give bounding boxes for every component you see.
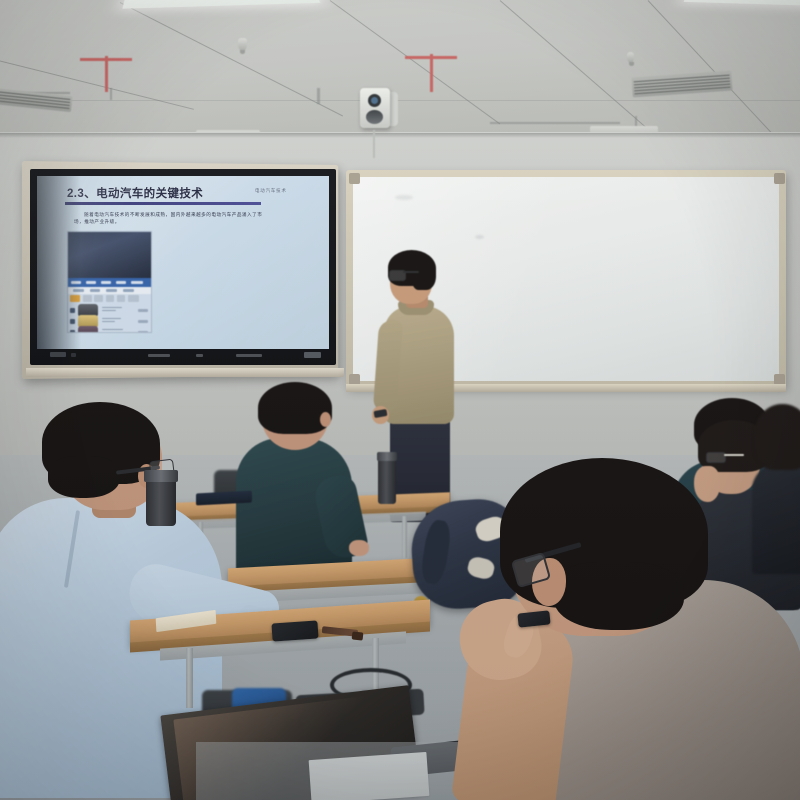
slide-corner-note: 电动汽车技术 (255, 188, 287, 194)
pen-cap (352, 631, 364, 640)
display-lower-tray (26, 368, 344, 377)
thermos-back-lid (377, 452, 397, 461)
slide-body-text: 随着电动汽车技术的不断发展和成熟，国内外越来越多的电动汽车产品涌入了市场，推动产… (74, 212, 264, 226)
whiteboard-corner-bracket (349, 173, 360, 184)
whiteboard-smudge (475, 235, 484, 239)
display-power-button[interactable] (71, 353, 76, 357)
thermos-back (378, 458, 396, 504)
conduit-right (490, 122, 620, 124)
student-teal-ear (320, 412, 331, 427)
student-blue-hair-nape (48, 456, 120, 498)
fire-pipe-cross-center (405, 56, 457, 59)
website-filter-tags (70, 295, 150, 302)
classroom-photo: 2.3、电动汽车的关键技术 电动汽车技术 随着电动汽车技术的不断发展和成熟，国内… (0, 0, 800, 800)
security-camera (358, 84, 398, 132)
display-port-cluster[interactable] (50, 352, 66, 357)
screen-glare-left (37, 176, 81, 349)
conduit-mid (110, 88, 112, 100)
website-car-row (70, 325, 150, 333)
presenter-hair-side (412, 256, 436, 290)
desk-leg (186, 648, 193, 708)
fire-pipe-left (105, 56, 108, 92)
display-brand-label (148, 354, 170, 357)
camera-lens-icon (368, 94, 381, 107)
thermos-flask (146, 478, 176, 526)
fire-pipe-cross-left (80, 58, 132, 61)
presenter-glasses-temple (403, 271, 419, 273)
smartphone[interactable] (271, 620, 318, 641)
whiteboard-corner-bracket (774, 173, 785, 184)
sprinkler-head-left (238, 38, 247, 51)
desk-leg (402, 516, 407, 558)
thermos-lid (144, 470, 178, 482)
whiteboard-smudge (395, 195, 413, 200)
ceiling-mount-stub (317, 88, 320, 104)
wall-ceiling-shadow (0, 133, 800, 138)
display-sensor (196, 354, 203, 357)
student-grey-hair-nape (554, 562, 684, 630)
slide-title-underline (65, 202, 261, 205)
sprinkler-head-right (627, 52, 634, 63)
student-teal-hand-skin (349, 540, 369, 556)
display-logo (304, 352, 321, 358)
ceiling-light-right (684, 0, 800, 7)
camera-cable (373, 130, 375, 158)
display-speaker-grille (236, 354, 262, 357)
camera-dome-icon (366, 110, 383, 124)
fire-pipe-center (430, 54, 433, 92)
ceiling-light-left (122, 0, 320, 9)
air-vent-top-right (631, 71, 732, 98)
student-grey (426, 452, 800, 800)
slide-title: 2.3、电动汽车的关键技术 (67, 185, 203, 201)
